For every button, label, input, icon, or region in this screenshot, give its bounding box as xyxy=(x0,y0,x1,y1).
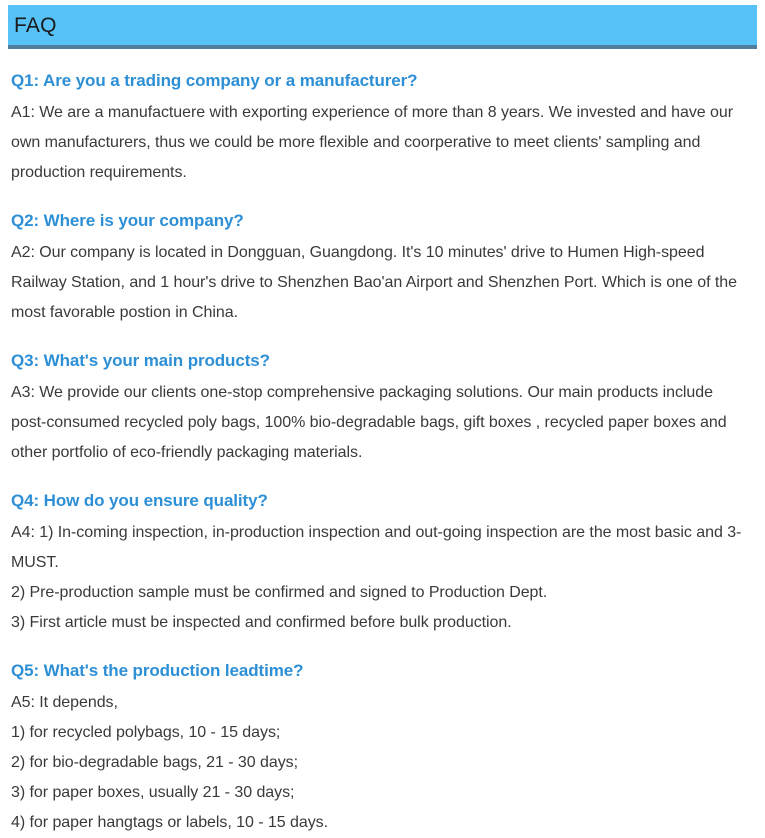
faq-answer-line: 2) for bio-degradable bags, 21 - 30 days… xyxy=(11,748,751,778)
faq-item: Q3: What's your main products? A3: We pr… xyxy=(11,350,751,468)
faq-item: Q2: Where is your company? A2: Our compa… xyxy=(11,210,751,328)
faq-answer-line: 1) for recycled polybags, 10 - 15 days; xyxy=(11,718,751,748)
faq-answer-line: A2: Our company is located in Dongguan, … xyxy=(11,238,751,328)
faq-question: Q2: Where is your company? xyxy=(11,210,751,233)
faq-banner: FAQ xyxy=(8,5,757,49)
faq-question: Q4: How do you ensure quality? xyxy=(11,490,751,513)
faq-list: Q1: Are you a trading company or a manuf… xyxy=(11,70,751,838)
faq-item: Q5: What's the production leadtime? A5: … xyxy=(11,660,751,838)
faq-answer-line: 3) First article must be inspected and c… xyxy=(11,608,751,638)
faq-banner-title: FAQ xyxy=(8,15,57,36)
faq-answer: A1: We are a manufactuere with exporting… xyxy=(11,98,751,188)
faq-answer: A3: We provide our clients one-stop comp… xyxy=(11,378,751,468)
faq-answer-line: A4: 1) In-coming inspection, in-producti… xyxy=(11,518,751,578)
faq-answer-line: 4) for paper hangtags or labels, 10 - 15… xyxy=(11,808,751,838)
faq-answer: A5: It depends, 1) for recycled polybags… xyxy=(11,688,751,838)
faq-answer-line: 3) for paper boxes, usually 21 - 30 days… xyxy=(11,778,751,808)
faq-answer-line: A5: It depends, xyxy=(11,688,751,718)
faq-page: FAQ Q1: Are you a trading company or a m… xyxy=(0,0,765,748)
faq-answer-line: 2) Pre-production sample must be confirm… xyxy=(11,578,751,608)
faq-item: Q1: Are you a trading company or a manuf… xyxy=(11,70,751,188)
faq-answer-line: A3: We provide our clients one-stop comp… xyxy=(11,378,751,468)
faq-answer: A2: Our company is located in Dongguan, … xyxy=(11,238,751,328)
faq-item: Q4: How do you ensure quality? A4: 1) In… xyxy=(11,490,751,638)
faq-question: Q1: Are you a trading company or a manuf… xyxy=(11,70,751,93)
faq-question: Q3: What's your main products? xyxy=(11,350,751,373)
faq-answer-line: A1: We are a manufactuere with exporting… xyxy=(11,98,751,188)
faq-question: Q5: What's the production leadtime? xyxy=(11,660,751,683)
faq-answer: A4: 1) In-coming inspection, in-producti… xyxy=(11,518,751,638)
